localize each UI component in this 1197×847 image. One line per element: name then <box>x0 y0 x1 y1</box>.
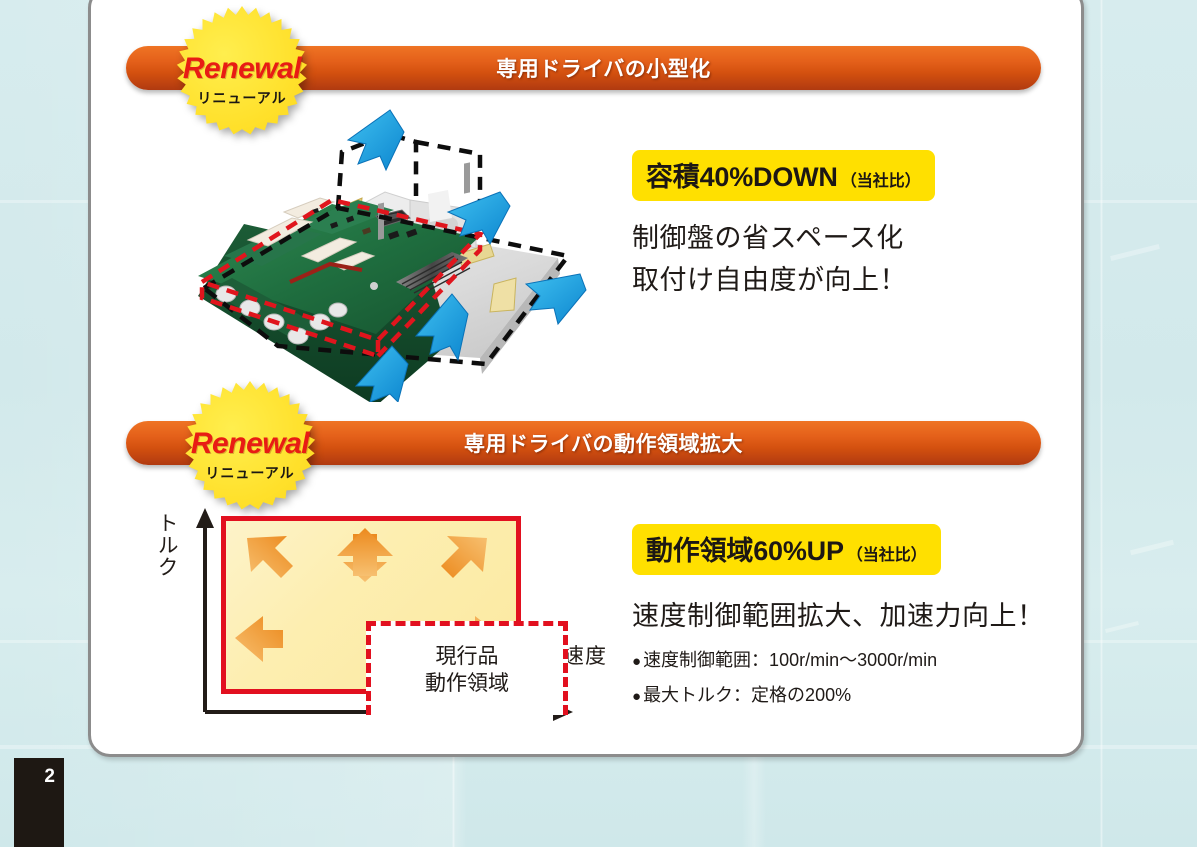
page-number-badge: 2 <box>14 758 64 847</box>
arrow-left-icon <box>235 616 283 662</box>
badge-english-label: Renewal <box>183 52 301 86</box>
badge-english-label: Renewal <box>191 427 309 461</box>
bullet-speed-range-text: 速度制御範囲：100r/min～3000r/min <box>643 650 937 670</box>
body-text-mounting-freedom: 取付け自由度が向上！ <box>632 258 907 297</box>
highlight-main-text: 容積40%DOWN <box>646 155 838 194</box>
bullet-dot-icon: ● <box>632 688 641 705</box>
badge-japanese-label: リニューアル <box>197 88 286 108</box>
bullet-speed-range: ●速度制御範囲：100r/min～3000r/min <box>632 646 937 672</box>
highlight-range-up: 動作領域60%UP （当社比） <box>632 524 941 575</box>
bullet-dot-icon: ● <box>632 653 641 670</box>
bg-sparkle <box>1105 621 1139 633</box>
operating-range-chart: トルク 速度 <box>145 500 625 725</box>
arrow-up-icon-2 <box>337 528 393 576</box>
highlight-main-text: 動作領域60%UP <box>646 529 844 568</box>
bullet-max-torque: ●最大トルク：定格の200% <box>632 681 851 707</box>
chart-inner-label-line1: 現行品 <box>436 644 499 671</box>
body-text-range-expansion: 速度制御範囲拡大、加速力向上！ <box>632 594 1045 633</box>
y-axis-arrowhead <box>196 508 214 528</box>
chart-region-new: 現行品 動作領域 <box>221 516 521 694</box>
arrow-up-right-icon <box>441 536 487 578</box>
badge-japanese-label: リニューアル <box>205 463 294 483</box>
renewal-badge-downsizing: Renewal リニューアル <box>168 6 316 154</box>
body-text-space-saving: 制御盤の省スペース化 <box>632 216 904 255</box>
bg-sparkle <box>1110 244 1160 261</box>
highlight-sub-text: （当社比） <box>847 541 927 565</box>
page-number-text: 2 <box>44 766 55 788</box>
bullet-max-torque-text: 最大トルク：定格の200% <box>643 685 851 705</box>
arrow-up-left-icon <box>247 536 293 578</box>
bg-sparkle <box>1130 540 1174 555</box>
highlight-volume-down: 容積40%DOWN （当社比） <box>632 150 935 201</box>
chart-ylabel: トルク <box>151 512 181 578</box>
highlight-sub-text: （当社比） <box>841 167 921 191</box>
bg-vline <box>1100 0 1103 847</box>
chart-xlabel: 速度 <box>563 640 607 670</box>
shrink-arrow-icon <box>348 110 404 170</box>
chart-inner-label-line2: 動作領域 <box>425 671 509 698</box>
chart-region-current: 現行品 動作領域 <box>366 621 568 715</box>
